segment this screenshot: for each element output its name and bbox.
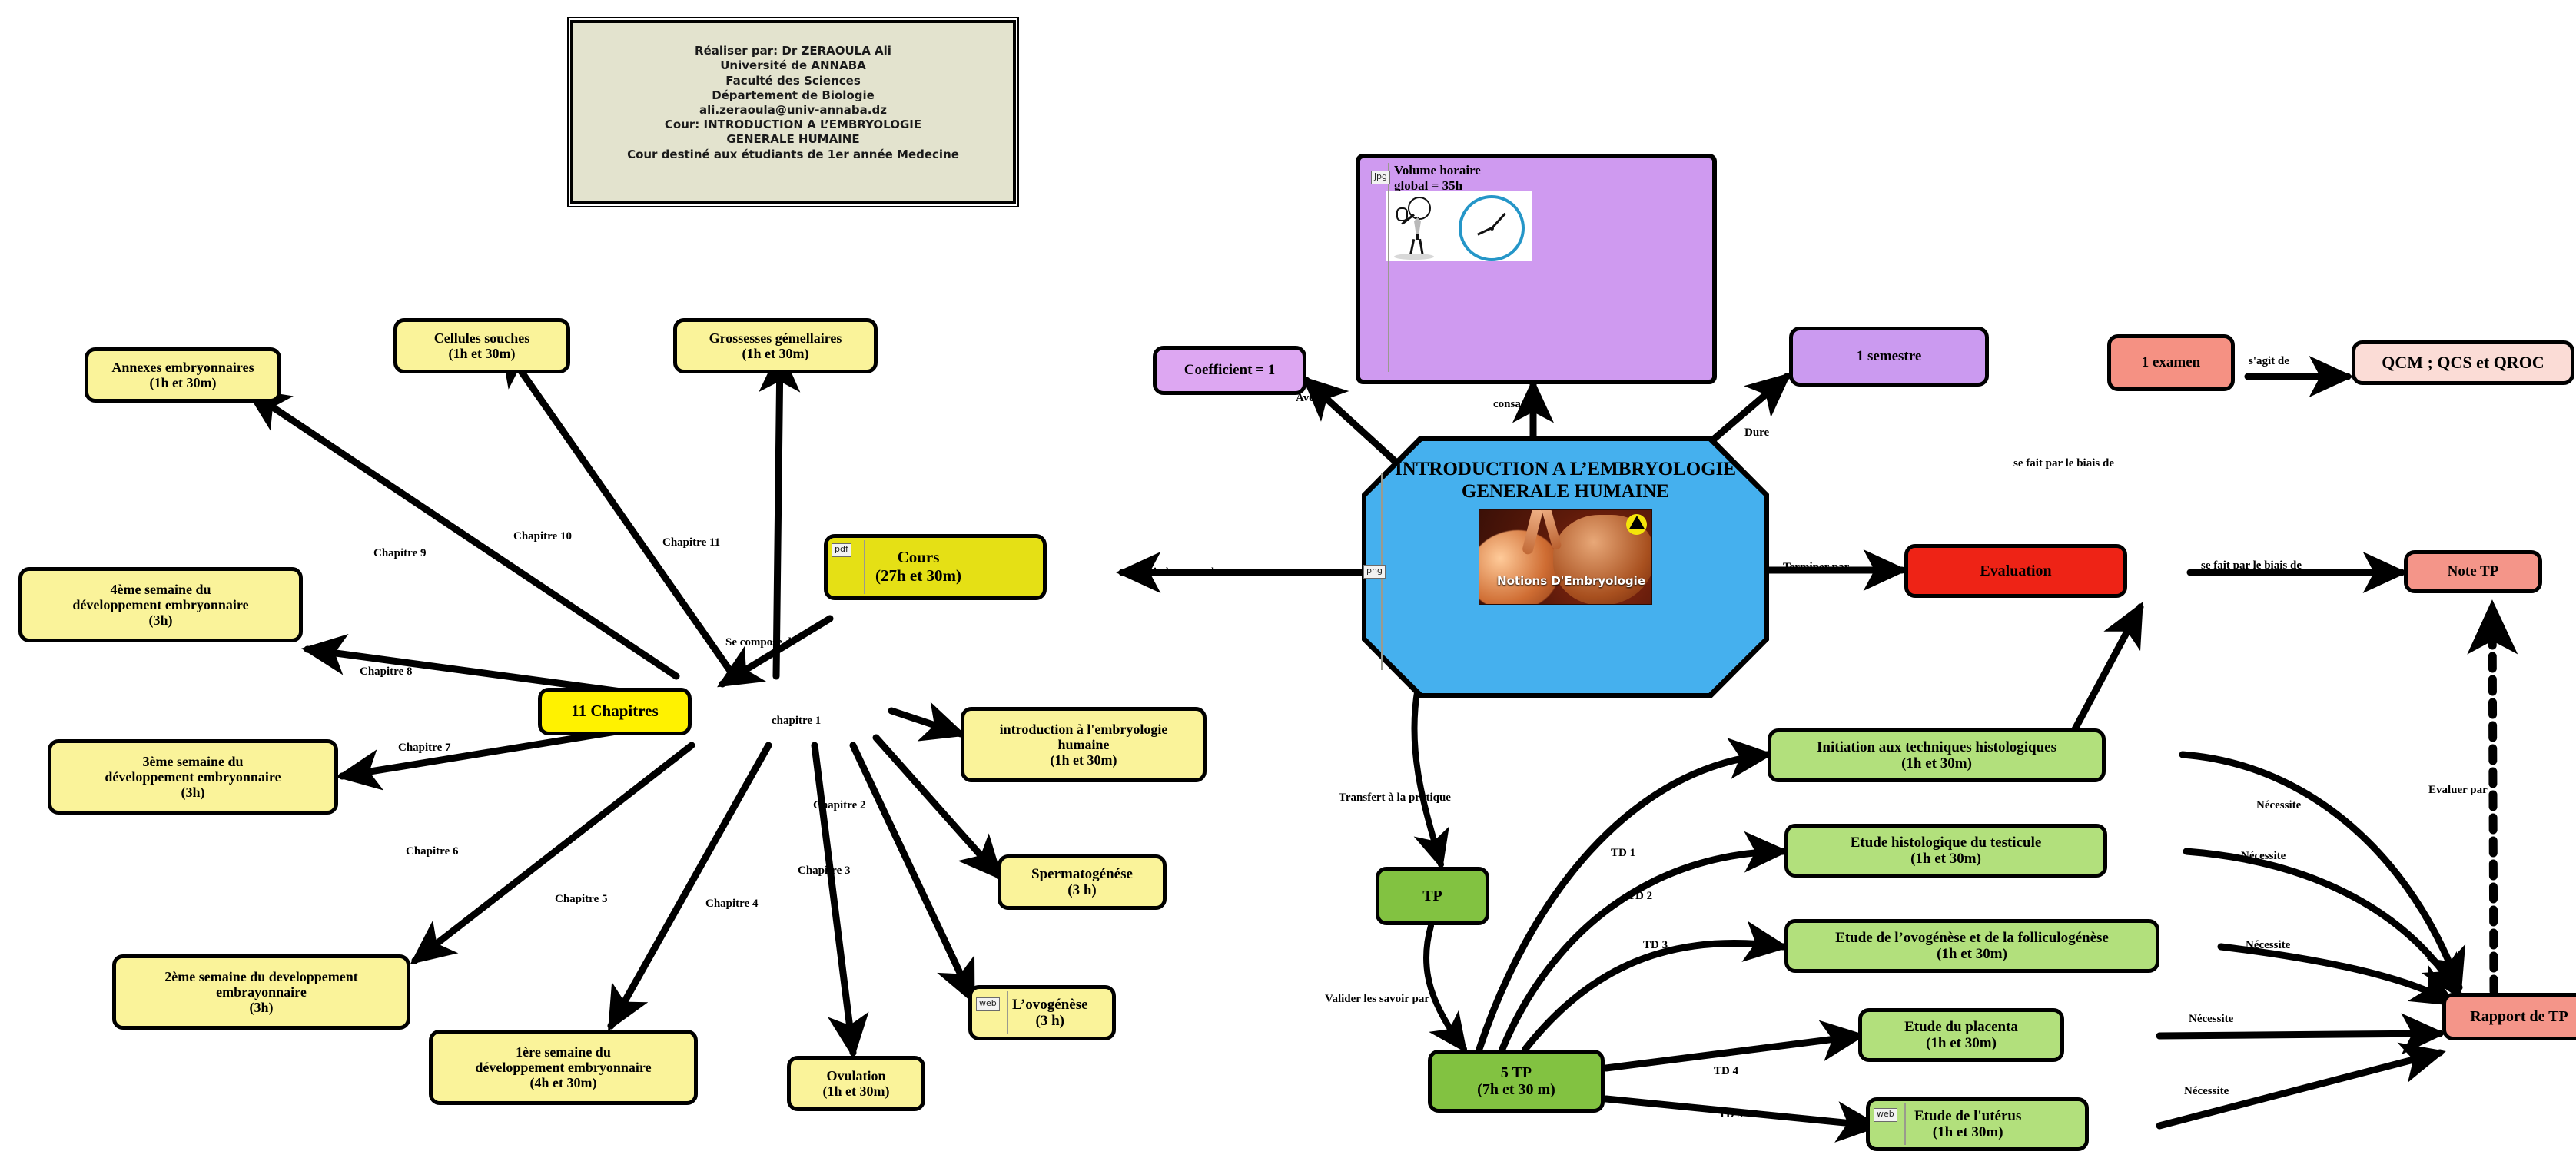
edge-label-necessite-3: Nécessite: [2246, 939, 2290, 952]
clock-illustration: [1386, 191, 1532, 261]
edge-label-dure: Dure: [1744, 426, 1769, 440]
edge-5tp-td1: [1479, 755, 1768, 1049]
author-legend: Réaliser par: Dr ZERAOULA Ali Université…: [570, 20, 1016, 204]
edge-td2-rapport: [2186, 851, 2459, 995]
node-qcm[interactable]: QCM ; QCS et QROC: [2352, 340, 2574, 385]
node-td1-initiation-histologie[interactable]: Initiation aux techniques histologiques …: [1768, 728, 2106, 782]
node-td4-placenta[interactable]: Etude du placenta (1h et 30m): [1858, 1008, 2064, 1062]
edge-label-evaluer-par: Evaluer par: [2428, 784, 2488, 797]
ovogenese-divider: [1007, 991, 1008, 1034]
node-ovulation[interactable]: Ovulation (1h et 30m): [787, 1056, 925, 1111]
edge-chapitres-cellules: [503, 346, 734, 676]
edge-label-chapitre-2: Chapitre 2: [813, 799, 865, 812]
edge-rapport-notetp: [2492, 607, 2494, 991]
pdf-file-icon[interactable]: pdf: [832, 543, 851, 557]
edge-label-chapitre-7: Chapitre 7: [398, 742, 450, 755]
node-evaluation[interactable]: Evaluation: [1904, 544, 2127, 598]
edge-label-td-2: TD 2: [1628, 890, 1652, 903]
node-semestre[interactable]: 1 semestre: [1789, 327, 1989, 387]
node-td5-uterus[interactable]: Etude de l'utérus (1h et 30m): [1866, 1097, 2089, 1151]
edge-label-chapitre-6: Chapitre 6: [406, 845, 458, 858]
node-semaine-4[interactable]: 4ème semaine du développement embryonnai…: [18, 567, 303, 642]
central-node[interactable]: INTRODUCTION A L’EMBRYOLOGIE GENERALE HU…: [1366, 441, 1764, 693]
legend-text: Réaliser par: Dr ZERAOULA Ali Université…: [627, 44, 959, 161]
edge-td3-rapport: [2221, 947, 2452, 1003]
edge-label-chapitre-5: Chapitre 5: [555, 893, 607, 906]
edge-label-chapitre-9: Chapitre 9: [373, 547, 426, 560]
web-file-icon-uterus[interactable]: web: [1874, 1108, 1897, 1122]
png-file-icon[interactable]: png: [1363, 565, 1386, 579]
edge-label-chapitre-1: chapitre 1: [772, 715, 821, 728]
node-spermatogenese[interactable]: Spermatogénése (3 h): [998, 854, 1167, 910]
node-tp[interactable]: TP: [1376, 867, 1489, 925]
edge-chapitres-annexes: [250, 392, 676, 676]
node-examen[interactable]: 1 examen: [2107, 334, 2235, 391]
edge-5tp-td4: [1606, 1036, 1860, 1068]
mindmap-canvas: Réaliser par: Dr ZERAOULA Ali Université…: [0, 0, 2576, 1168]
node-ovogenese[interactable]: L’ovogénèse (3 h): [968, 985, 1116, 1040]
edge-label-transfert-a-la-pratique: Transfert à la pratique: [1339, 791, 1451, 805]
node-11-chapitres[interactable]: 11 Chapitres: [538, 688, 692, 735]
edge-label-se-fait-par-le-biais-de-1: se fait par le biais de: [2013, 457, 2114, 470]
node-semaine-3[interactable]: 3ème semaine du développement embryonnai…: [48, 739, 338, 815]
edge-label-avec: Avec: [1296, 392, 1320, 405]
jpg-file-icon[interactable]: jpg: [1371, 171, 1390, 184]
edge-label-td-1: TD 1: [1611, 847, 1635, 860]
node-volume-horaire[interactable]: Volume horaire global = 35h: [1356, 154, 1717, 384]
node-grossesses-gemellaires[interactable]: Grossesses gémellaires (1h et 30m): [673, 318, 878, 373]
node-coefficient[interactable]: Coefficient = 1: [1153, 346, 1306, 395]
central-node-title: INTRODUCTION A L’EMBRYOLOGIE GENERALE HU…: [1395, 458, 1736, 503]
node-volume-horaire-label: Volume horaire global = 35h: [1360, 158, 1712, 194]
edge-label-valider-les-savoir-par: Valider les savoir par: [1325, 993, 1429, 1006]
node-cellules-souches[interactable]: Cellules souches (1h et 30m): [393, 318, 570, 373]
node-cours[interactable]: Cours (27h et 30m): [824, 534, 1047, 600]
edge-label-savoir-a-travers-les: Savoir à travers les: [1130, 566, 1224, 579]
edge-chapitres-semaine1: [611, 745, 768, 1026]
edge-chapitres-ovulation: [815, 745, 853, 1053]
edge-label-chapitre-3: Chapitre 3: [798, 864, 850, 878]
node-intro-embryologie[interactable]: introduction à l'embryologie humaine (1h…: [961, 707, 1207, 782]
edge-label-td-4: TD 4: [1714, 1065, 1738, 1078]
edge-td4-rapport: [2159, 1034, 2440, 1036]
clock-icon: [1459, 195, 1525, 261]
radiation-icon: [1626, 514, 1647, 535]
edge-label-terminer-par: Terminer par: [1783, 561, 1849, 574]
edge-label-se-fait-par-le-biais-de-2: se fait par le biais de: [2201, 559, 2302, 572]
node-rapport-tp[interactable]: Rapport de TP: [2442, 993, 2576, 1040]
edge-label-chapitre-10: Chapitre 10: [513, 530, 572, 543]
edge-label-chapitre-8: Chapitre 8: [360, 665, 412, 679]
edge-label-chapitre-11: Chapitre 11: [662, 536, 720, 549]
edge-chapitres-ovogenese: [853, 745, 972, 999]
edge-label-chapitre-4: Chapitre 4: [705, 898, 758, 911]
edge-tp-5tp: [1426, 926, 1464, 1049]
edge-label-necessite-2: Nécessite: [2241, 850, 2286, 863]
td5-divider: [1904, 1103, 1906, 1145]
edge-central-coefficient: [1306, 380, 1395, 461]
cours-divider: [864, 540, 865, 594]
edge-5tp-td3: [1525, 943, 1783, 1049]
node-td2-testicule[interactable]: Etude histologique du testicule (1h et 3…: [1784, 824, 2107, 878]
embryo-image-caption: Notions D'Embryologie: [1497, 575, 1645, 588]
embryo-image: Notions D'Embryologie: [1479, 509, 1652, 605]
volume-card-divider: [1388, 163, 1389, 372]
edge-label-se-compose-de: Se compose de: [725, 636, 797, 649]
edge-label-necessite-5: Nécessite: [2184, 1085, 2229, 1098]
web-file-icon-ovogenese[interactable]: web: [976, 997, 1000, 1011]
edge-label-td-5: TD 5: [1718, 1108, 1743, 1121]
node-td3-ovogenese-folliculogenese[interactable]: Etude de l’ovogénèse et de la folliculog…: [1784, 919, 2159, 973]
node-semaine-2[interactable]: 2ème semaine du developpement embrayonna…: [112, 954, 410, 1030]
edge-td1-rapport: [2183, 755, 2459, 987]
stick-figure-icon: [1396, 195, 1442, 257]
node-semaine-1[interactable]: 1ère semaine du développement embryonnai…: [429, 1030, 698, 1105]
edge-central-tp: [1414, 688, 1441, 864]
node-annexes-embryonnaires[interactable]: Annexes embryonnaires (1h et 30m): [85, 347, 281, 403]
edge-label-sagit-de: s'agit de: [2249, 355, 2289, 368]
node-note-tp[interactable]: Note TP: [2404, 550, 2542, 593]
edge-cours-chapitres: [722, 619, 830, 684]
edge-label-consacre: consacre: [1493, 398, 1536, 411]
node-5-tp[interactable]: 5 TP (7h et 30 m): [1428, 1050, 1605, 1113]
edge-chapitres-intro: [891, 711, 961, 734]
edge-label-td-3: TD 3: [1643, 939, 1668, 952]
edge-label-necessite-1: Nécessite: [2256, 799, 2301, 812]
edge-chapitres-grossesses: [776, 353, 780, 676]
edge-label-necessite-4: Nécessite: [2189, 1013, 2233, 1026]
